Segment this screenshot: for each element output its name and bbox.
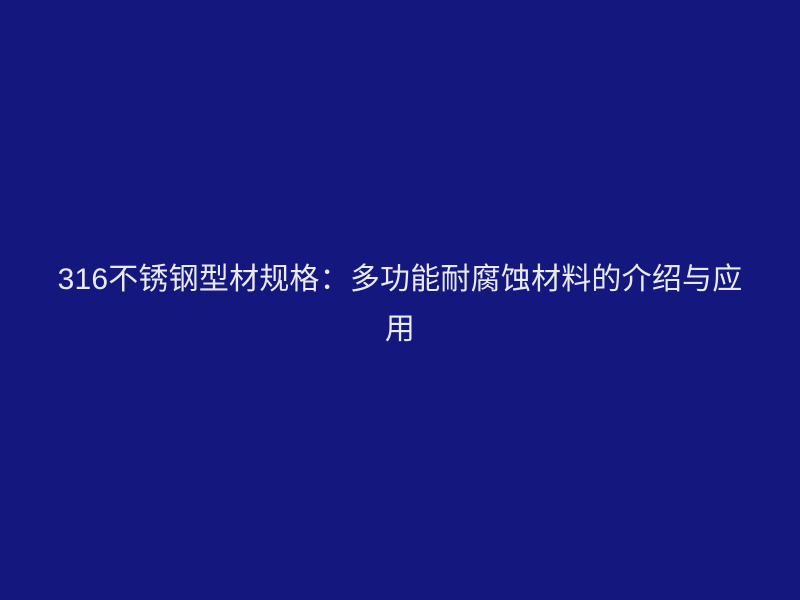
title-card: 316不锈钢型材规格：多功能耐腐蚀材料的介绍与应用: [0, 0, 800, 600]
title-text-block: 316不锈钢型材规格：多功能耐腐蚀材料的介绍与应用: [55, 255, 745, 355]
page-title: 316不锈钢型材规格：多功能耐腐蚀材料的介绍与应用: [55, 255, 745, 355]
